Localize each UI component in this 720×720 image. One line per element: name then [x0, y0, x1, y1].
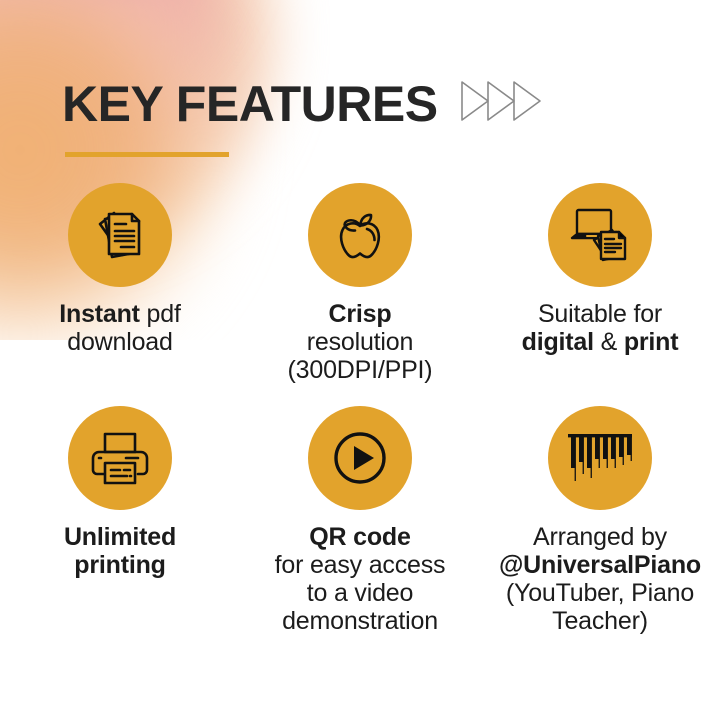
title-underline	[65, 152, 229, 157]
feature-icon-badge	[68, 406, 172, 510]
apple-icon	[330, 205, 390, 265]
feature-caption: Unlimitedprinting	[64, 523, 176, 579]
printer-icon	[88, 429, 152, 487]
feature-icon-badge	[548, 406, 652, 510]
feature-item-crisp-resolution: Crispresolution(300DPI/PPI)	[240, 183, 480, 384]
feature-icon-badge	[548, 183, 652, 287]
triple-chevron-right-icon	[458, 78, 542, 129]
page-title: KEY FEATURES	[62, 79, 438, 129]
feature-caption: Suitable fordigital & print	[522, 300, 679, 356]
feature-item-unlimited-printing: Unlimitedprinting	[0, 406, 240, 635]
key-features-infographic: KEY FEATURES	[0, 0, 720, 720]
feature-icon-badge	[308, 183, 412, 287]
feature-caption: Crispresolution(300DPI/PPI)	[288, 300, 433, 384]
play-button-circle-icon	[331, 429, 389, 487]
feature-item-qr-code-video: QR codefor easy accessto a videodemonstr…	[240, 406, 480, 635]
feature-item-digital-and-print: Suitable fordigital & print	[480, 183, 720, 384]
feature-caption: Instant pdfdownload	[59, 300, 180, 356]
feature-item-arranged-by: Arranged by@UniversalPiano(YouTuber, Pia…	[480, 406, 720, 635]
page-header: KEY FEATURES	[62, 78, 542, 129]
feature-caption: QR codefor easy accessto a videodemonstr…	[275, 523, 446, 635]
piano-keys-icon	[565, 428, 635, 488]
features-grid: Instant pdfdownload Crispresolution(300D…	[0, 183, 720, 635]
feature-item-instant-pdf-download: Instant pdfdownload	[0, 183, 240, 384]
feature-caption: Arranged by@UniversalPiano(YouTuber, Pia…	[499, 523, 701, 635]
feature-icon-badge	[308, 406, 412, 510]
laptop-and-documents-icon	[567, 204, 633, 266]
feature-icon-badge	[68, 183, 172, 287]
documents-stack-icon	[89, 204, 151, 266]
